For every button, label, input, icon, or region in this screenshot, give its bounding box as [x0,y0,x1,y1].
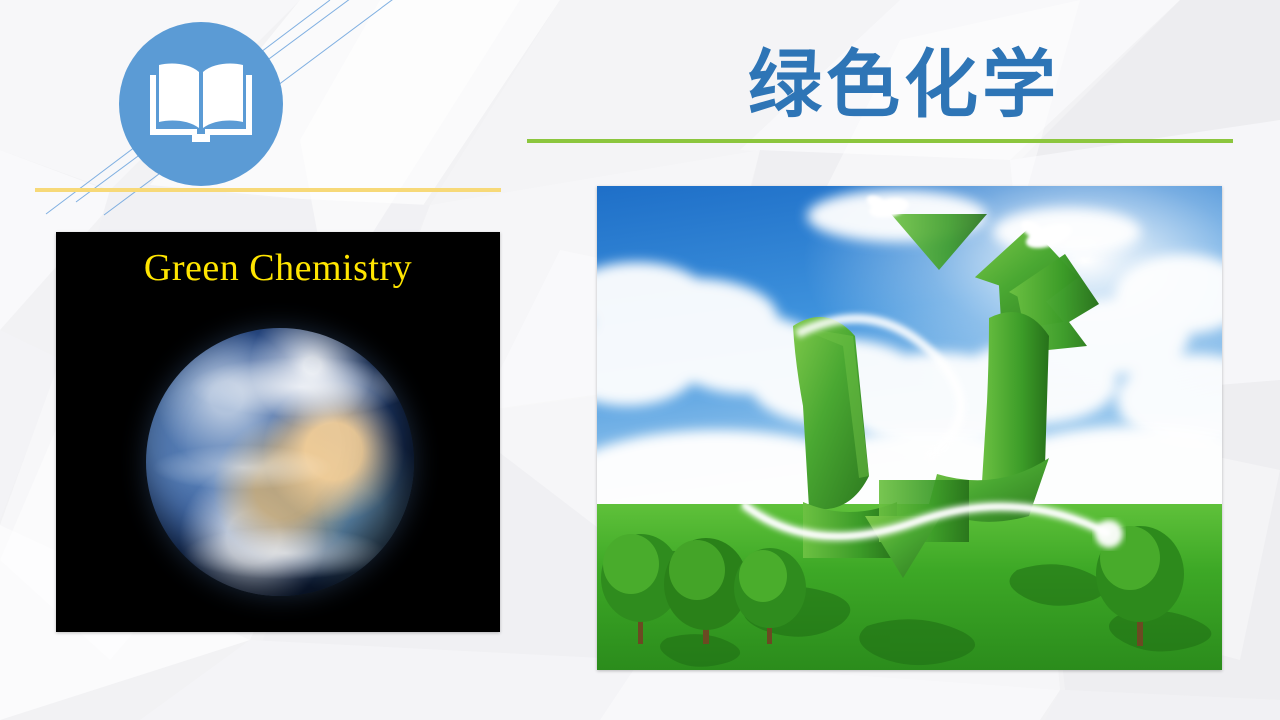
gold-divider [35,188,501,192]
green-chemistry-earth-photo: Green Chemistry [56,232,500,632]
green-chemistry-caption: Green Chemistry [56,246,500,290]
earth-globe [146,328,414,596]
open-book-icon [149,58,253,150]
green-divider [527,139,1233,143]
recycling-nature-photo [597,186,1222,670]
slide-root: 绿色化学 Green Chemistry [0,0,1280,720]
book-badge [119,22,283,186]
page-title: 绿色化学 [748,48,1060,122]
